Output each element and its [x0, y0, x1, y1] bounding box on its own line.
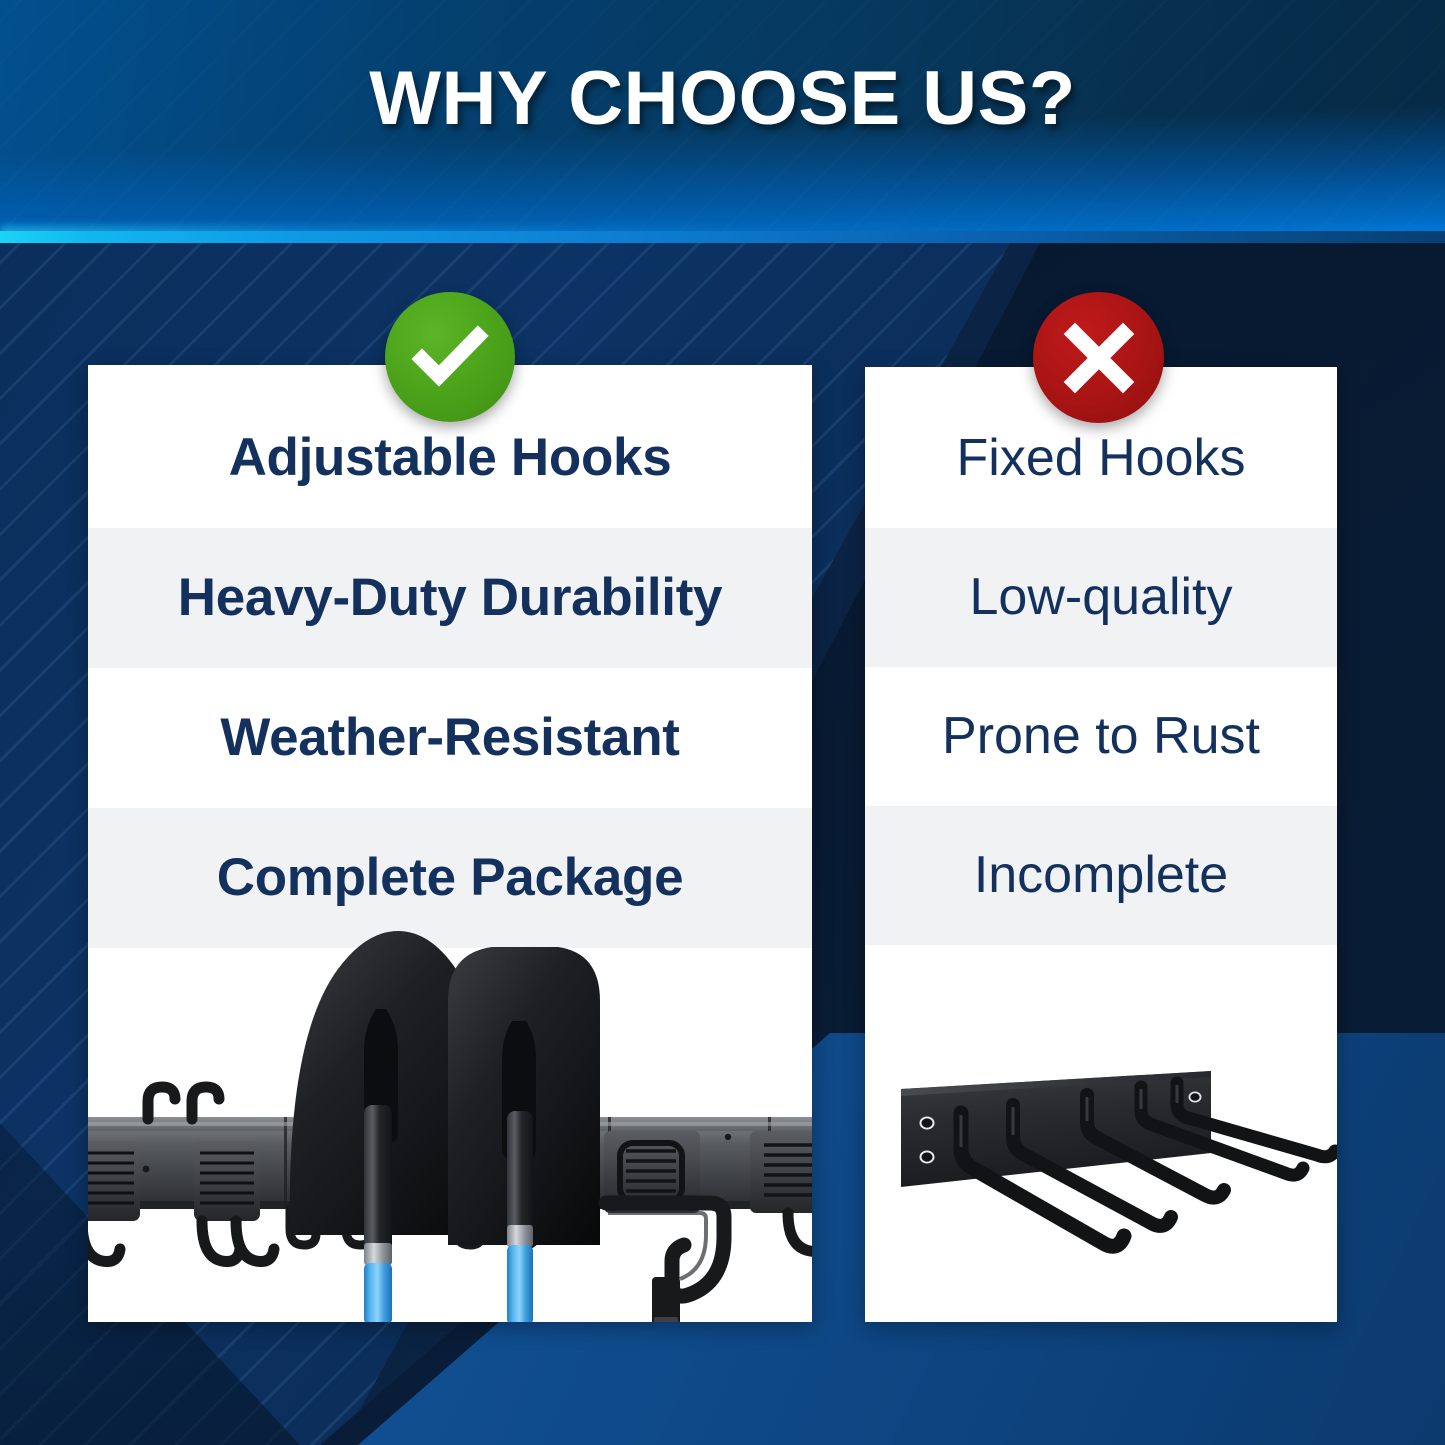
pro-product-image [88, 925, 812, 1322]
list-item: Weather-Resistant [88, 668, 812, 808]
square-shovel [448, 947, 600, 1322]
list-item: Incomplete [865, 806, 1337, 945]
con-product-image [865, 1027, 1337, 1322]
con-feature-label: Low-quality [969, 570, 1232, 625]
page-title: WHY CHOOSE US? [0, 55, 1445, 142]
clip-bracket [750, 1131, 812, 1252]
con-feature-label: Prone to Rust [942, 709, 1260, 764]
pro-feature-label: Weather-Resistant [220, 710, 679, 766]
cyan-accent-divider [0, 231, 1445, 243]
upward-hook [148, 1087, 219, 1119]
con-comparison-card: Fixed Hooks Low-quality Prone to Rust In… [865, 367, 1337, 1322]
sliding-bracket [88, 1141, 140, 1262]
list-item: Low-quality [865, 528, 1337, 667]
list-item: Heavy-Duty Durability [88, 528, 812, 668]
d-handle-tool [606, 1203, 724, 1322]
pro-feature-label: Complete Package [217, 850, 684, 906]
cross-badge [1033, 292, 1164, 423]
con-feature-label: Fixed Hooks [957, 431, 1246, 486]
con-feature-list: Fixed Hooks Low-quality Prone to Rust In… [865, 367, 1337, 945]
fixed-hook-rail [901, 1071, 1335, 1246]
con-feature-label: Incomplete [974, 848, 1228, 903]
pro-feature-label: Heavy-Duty Durability [178, 570, 722, 626]
infographic-canvas: WHY CHOOSE US? Adjustable Hooks Heavy-Du… [0, 0, 1445, 1445]
pro-feature-label: Adjustable Hooks [229, 430, 672, 486]
check-badge [385, 292, 515, 422]
list-item: Prone to Rust [865, 667, 1337, 806]
pro-feature-list: Adjustable Hooks Heavy-Duty Durability W… [88, 365, 812, 948]
pro-comparison-card: Adjustable Hooks Heavy-Duty Durability W… [88, 365, 812, 1322]
check-icon [408, 315, 492, 399]
cross-icon [1059, 318, 1139, 398]
